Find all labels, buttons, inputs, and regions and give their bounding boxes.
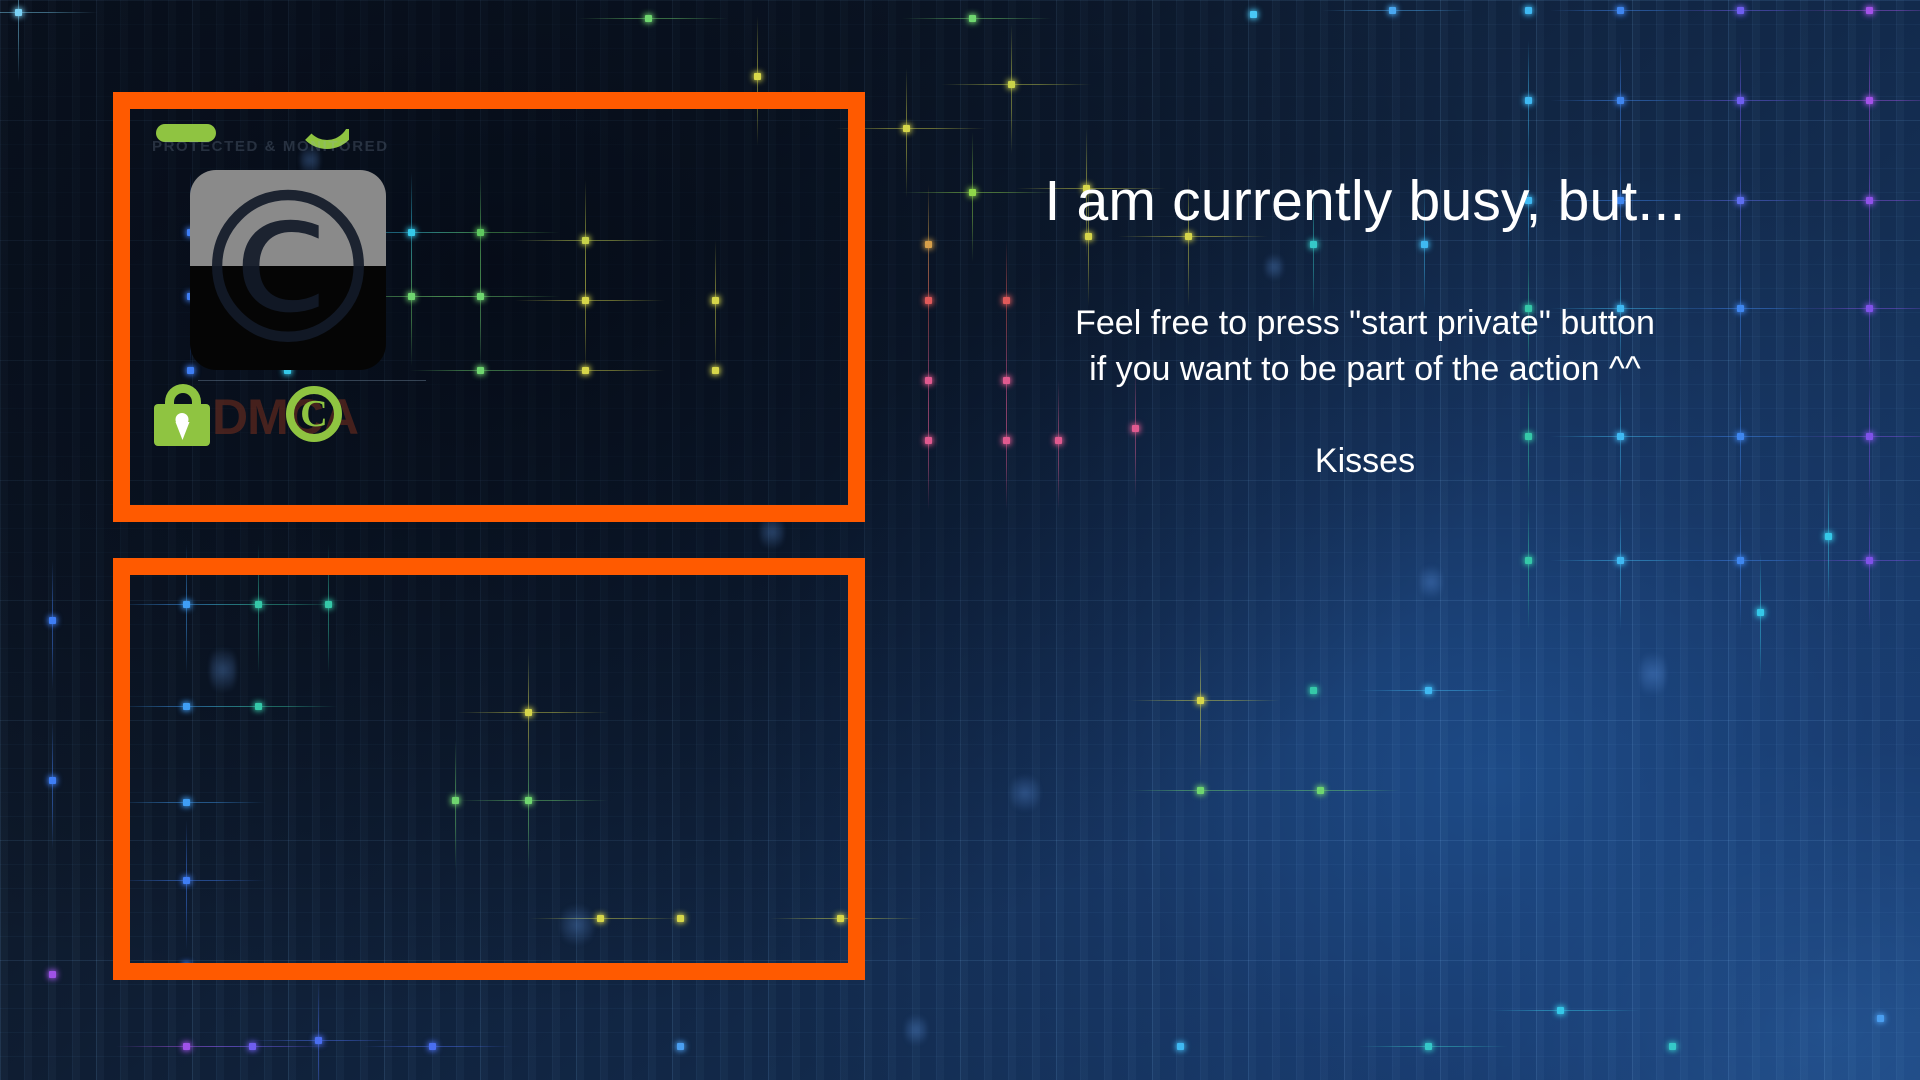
circuit-trace <box>0 12 98 13</box>
circuit-node <box>677 1043 684 1050</box>
message-signoff: Kisses <box>900 442 1830 481</box>
dmca-badge-footer: DMCA C <box>150 376 450 446</box>
circuit-trace <box>1869 376 1870 506</box>
circuit-trace <box>1528 500 1529 630</box>
background-light-blob <box>1640 645 1666 703</box>
circuit-trace <box>1130 700 1280 701</box>
circuit-trace <box>182 1046 332 1047</box>
circuit-trace <box>1620 500 1621 630</box>
circuit-trace <box>52 560 53 690</box>
circuit-trace <box>1740 500 1741 630</box>
dmca-protection-badge[interactable]: PROTECTED & MONITORED © DMCA C <box>150 110 450 446</box>
circuit-trace <box>1550 560 1700 561</box>
message-heading: I am currently busy, but... <box>900 170 1830 234</box>
dmca-tagline: PROTECTED & MONITORED <box>152 138 389 155</box>
status-message: I am currently busy, but... Feel free to… <box>900 170 1830 481</box>
divider <box>198 380 426 381</box>
circuit-trace <box>1828 476 1829 606</box>
circuit-trace <box>1322 10 1472 11</box>
circuit-trace <box>248 1040 398 1041</box>
circuit-trace <box>1799 10 1920 11</box>
circuit-trace <box>1670 100 1820 101</box>
padlock-shackle <box>165 384 201 406</box>
dmca-badge-header: PROTECTED & MONITORED <box>150 110 450 158</box>
background-light-blob <box>1420 560 1442 604</box>
circuit-node <box>1250 11 1257 18</box>
circuit-node <box>49 971 56 978</box>
message-body-line-2: if you want to be part of the action ^^ <box>900 346 1830 392</box>
copyright-glyph: © <box>190 170 386 370</box>
circuit-trace <box>1760 552 1761 682</box>
circuit-trace <box>1250 790 1400 791</box>
circuit-trace <box>18 0 19 82</box>
background-light-blob <box>905 1010 927 1050</box>
circuit-trace <box>1358 1046 1508 1047</box>
circuit-trace <box>1799 100 1920 101</box>
circuit-trace <box>1358 690 1508 691</box>
circuit-node <box>1525 7 1532 14</box>
circuit-trace <box>578 18 728 19</box>
circuit-trace <box>1011 24 1012 154</box>
message-body: Feel free to press "start private" butto… <box>900 300 1830 392</box>
background-light-blob <box>1010 770 1040 816</box>
circuit-trace <box>1670 10 1820 11</box>
dmca-copyright-overlay-icon: C <box>286 386 342 442</box>
circuit-node <box>1669 1043 1676 1050</box>
circuit-trace <box>318 980 319 1080</box>
screen: PROTECTED & MONITORED © DMCA C I am curr… <box>0 0 1920 1080</box>
circuit-trace <box>1490 1010 1640 1011</box>
padlock-keyhole <box>176 413 189 426</box>
padlock-body <box>154 404 210 446</box>
copyright-tile-icon: © <box>190 170 386 370</box>
circuit-trace <box>1799 560 1920 561</box>
circuit-trace <box>902 18 1052 19</box>
circuit-node <box>1877 1015 1884 1022</box>
circuit-trace <box>52 720 53 850</box>
circuit-trace <box>1869 500 1870 630</box>
circuit-trace <box>1869 248 1870 378</box>
message-body-line-1: Feel free to press "start private" butto… <box>900 300 1830 346</box>
circuit-trace <box>362 1046 512 1047</box>
circuit-node <box>1310 687 1317 694</box>
circuit-trace <box>1200 640 1201 770</box>
circuit-node <box>1177 1043 1184 1050</box>
open-padlock-icon <box>154 384 210 446</box>
circuit-trace <box>941 84 1091 85</box>
lower-highlight-box[interactable] <box>113 558 865 980</box>
